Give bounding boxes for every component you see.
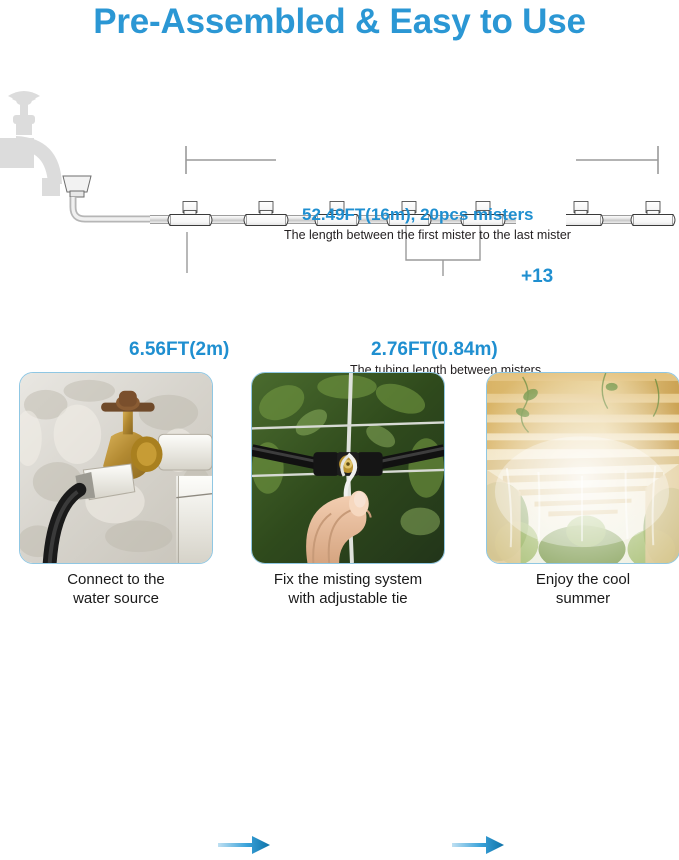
- hose-adapter-icon: [63, 176, 91, 197]
- step-card-1: Connect to the water source: [19, 372, 213, 564]
- step-card-3: Enjoy the cool summer: [486, 372, 679, 564]
- misting-system-diagram: 52.49FT(16m), 20pcs misters The length b…: [0, 60, 679, 350]
- step-card-2: Fix the misting system with adjustable t…: [251, 372, 445, 564]
- step-caption-1: Connect to the water source: [19, 570, 213, 608]
- step-caption-1-line2: water source: [19, 589, 213, 608]
- page-title: Pre-Assembled & Easy to Use: [0, 2, 679, 42]
- step-caption-3: Enjoy the cool summer: [486, 570, 679, 608]
- faucet-icon: [0, 91, 62, 196]
- additional-misters-label: +13: [521, 266, 553, 288]
- step-caption-2: Fix the misting system with adjustable t…: [251, 570, 445, 608]
- mister-gap-label: 2.76FT(0.84m): [371, 339, 498, 361]
- step-caption-2-line1: Fix the misting system: [251, 570, 445, 589]
- overall-length-sublabel: The length between the first mister to t…: [284, 228, 571, 242]
- arrow-right-icon: [216, 830, 272, 860]
- step-caption-3-line2: summer: [486, 589, 679, 608]
- overall-length-label: 52.49FT(16m), 20pcs misters: [302, 205, 534, 225]
- drop-length-label: 6.56FT(2m): [129, 339, 229, 361]
- steps-strip: Connect to the water source: [0, 372, 679, 614]
- mister-tee-icon: [244, 202, 288, 226]
- step-caption-1-line1: Connect to the: [19, 570, 213, 589]
- mister-tee-icon: [631, 202, 675, 226]
- adjustable-tie-photo: [251, 372, 445, 564]
- step-caption-2-line2: with adjustable tie: [251, 589, 445, 608]
- step-caption-3-line1: Enjoy the cool: [486, 570, 679, 589]
- mister-tee-icon: [168, 202, 212, 226]
- pergola-mist-photo: [486, 372, 679, 564]
- spigot-connection-photo: [19, 372, 213, 564]
- arrow-right-icon: [450, 830, 506, 860]
